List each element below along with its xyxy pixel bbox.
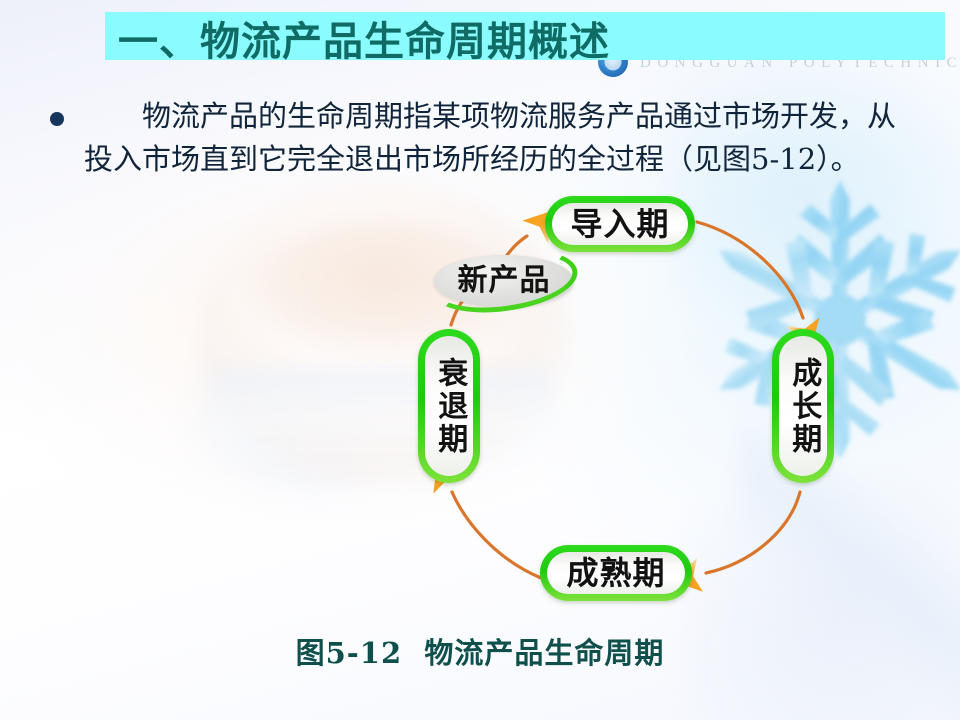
lifecycle-diagram: 新产品 导入期 成长期 成熟期 衰退期 图5-1: [0, 0, 960, 720]
maturity-capsule-inner: 成熟期: [547, 552, 685, 594]
figure-caption-text: 物流产品生命周期: [424, 636, 664, 670]
diagram-node-label: 衰退期: [434, 357, 465, 456]
diagram-node-growth[interactable]: 成长期: [772, 329, 834, 483]
diagram-node-introduction[interactable]: 导入期: [545, 196, 695, 252]
slide-canvas: DONGGUAN POLYTECHNIC 一、物流产品生命周期概述 物流产品的生…: [0, 0, 960, 720]
diagram-node-label: 成熟期: [566, 557, 665, 590]
arrow-path-mature-decline: [452, 492, 541, 578]
diagram-node-maturity[interactable]: 成熟期: [540, 545, 692, 601]
figure-caption: 图5-12 物流产品生命周期: [0, 630, 960, 672]
diagram-node-label: 成长期: [788, 357, 819, 456]
newproduct-oval: 新产品: [434, 255, 574, 307]
arrow-path-intro-growth: [697, 222, 803, 318]
figure-number: 图5-12: [296, 636, 403, 670]
introduction-capsule-inner: 导入期: [552, 203, 688, 245]
diagram-node-label: 新产品: [458, 266, 551, 297]
diagram-node-newproduct[interactable]: 新产品: [434, 255, 574, 307]
arrow-path-growth-mature: [706, 492, 800, 573]
diagram-node-decline[interactable]: 衰退期: [418, 329, 480, 483]
decline-capsule-inner: 衰退期: [425, 336, 473, 476]
diagram-node-label: 导入期: [570, 208, 669, 241]
growth-capsule-inner: 成长期: [779, 336, 827, 476]
